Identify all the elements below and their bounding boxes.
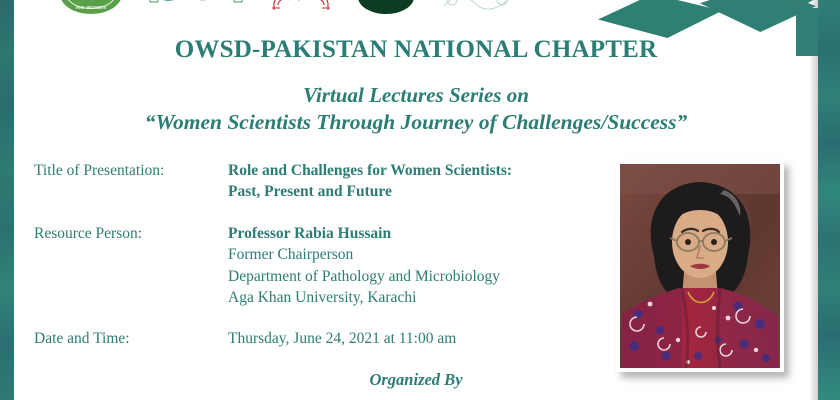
faint-partner-logo (440, 0, 514, 14)
organized-by-heading: Organized By (14, 370, 818, 390)
resource-person-value: Professor Rabia Hussain Former Chairpers… (228, 223, 594, 309)
speaker-portrait-frame (620, 164, 780, 368)
title-value-line-1: Role and Challenges for Women Scientists… (228, 160, 594, 181)
dark-green-circle-disc (358, 0, 414, 14)
resource-person-role: Former Chairperson (228, 244, 594, 265)
resource-person-department: Department of Pathology and Microbiology (228, 266, 594, 287)
owsd-logo-text: ING WOMEN (60, 5, 122, 10)
svg-text:الم: الم (298, 0, 303, 1)
page-title: OWSD-PAKISTAN NATIONAL CHAPTER (14, 36, 818, 64)
resource-person-name: Professor Rabia Hussain (228, 223, 594, 244)
left-border-band (0, 0, 14, 400)
detail-row-title: Title of Presentation: Role and Challeng… (34, 160, 594, 203)
speaker-portrait (616, 160, 784, 372)
resource-person-institution: Aga Khan University, Karachi (228, 287, 594, 308)
university-seal-logo: University (148, 0, 244, 14)
right-border-band (818, 0, 840, 400)
series-subtitle-line-1: Virtual Lectures Series on (14, 83, 818, 108)
owsd-logo: ING WOMEN (60, 0, 122, 14)
datetime-label: Date and Time: (34, 328, 228, 349)
speaker-portrait-image (620, 164, 780, 368)
title-value: Role and Challenges for Women Scientists… (228, 160, 594, 203)
resource-person-label: Resource Person: (34, 223, 228, 309)
detail-row-datetime: Date and Time: Thursday, June 24, 2021 a… (34, 328, 594, 349)
poster-canvas: ING WOMEN University (0, 0, 840, 400)
dark-green-circle-logo (358, 0, 414, 14)
event-details: Title of Presentation: Role and Challeng… (34, 160, 594, 362)
title-value-line-2: Past, Present and Future (228, 181, 594, 202)
title-label: Title of Presentation: (34, 160, 228, 203)
crest-logo: الم (270, 0, 332, 14)
detail-row-resource-person: Resource Person: Professor Rabia Hussain… (34, 223, 594, 309)
series-subtitle-line-2: “Women Scientists Through Journey of Cha… (14, 110, 818, 135)
datetime-value: Thursday, June 24, 2021 at 11:00 am (228, 328, 594, 349)
logo-strip: ING WOMEN University (14, 0, 818, 14)
